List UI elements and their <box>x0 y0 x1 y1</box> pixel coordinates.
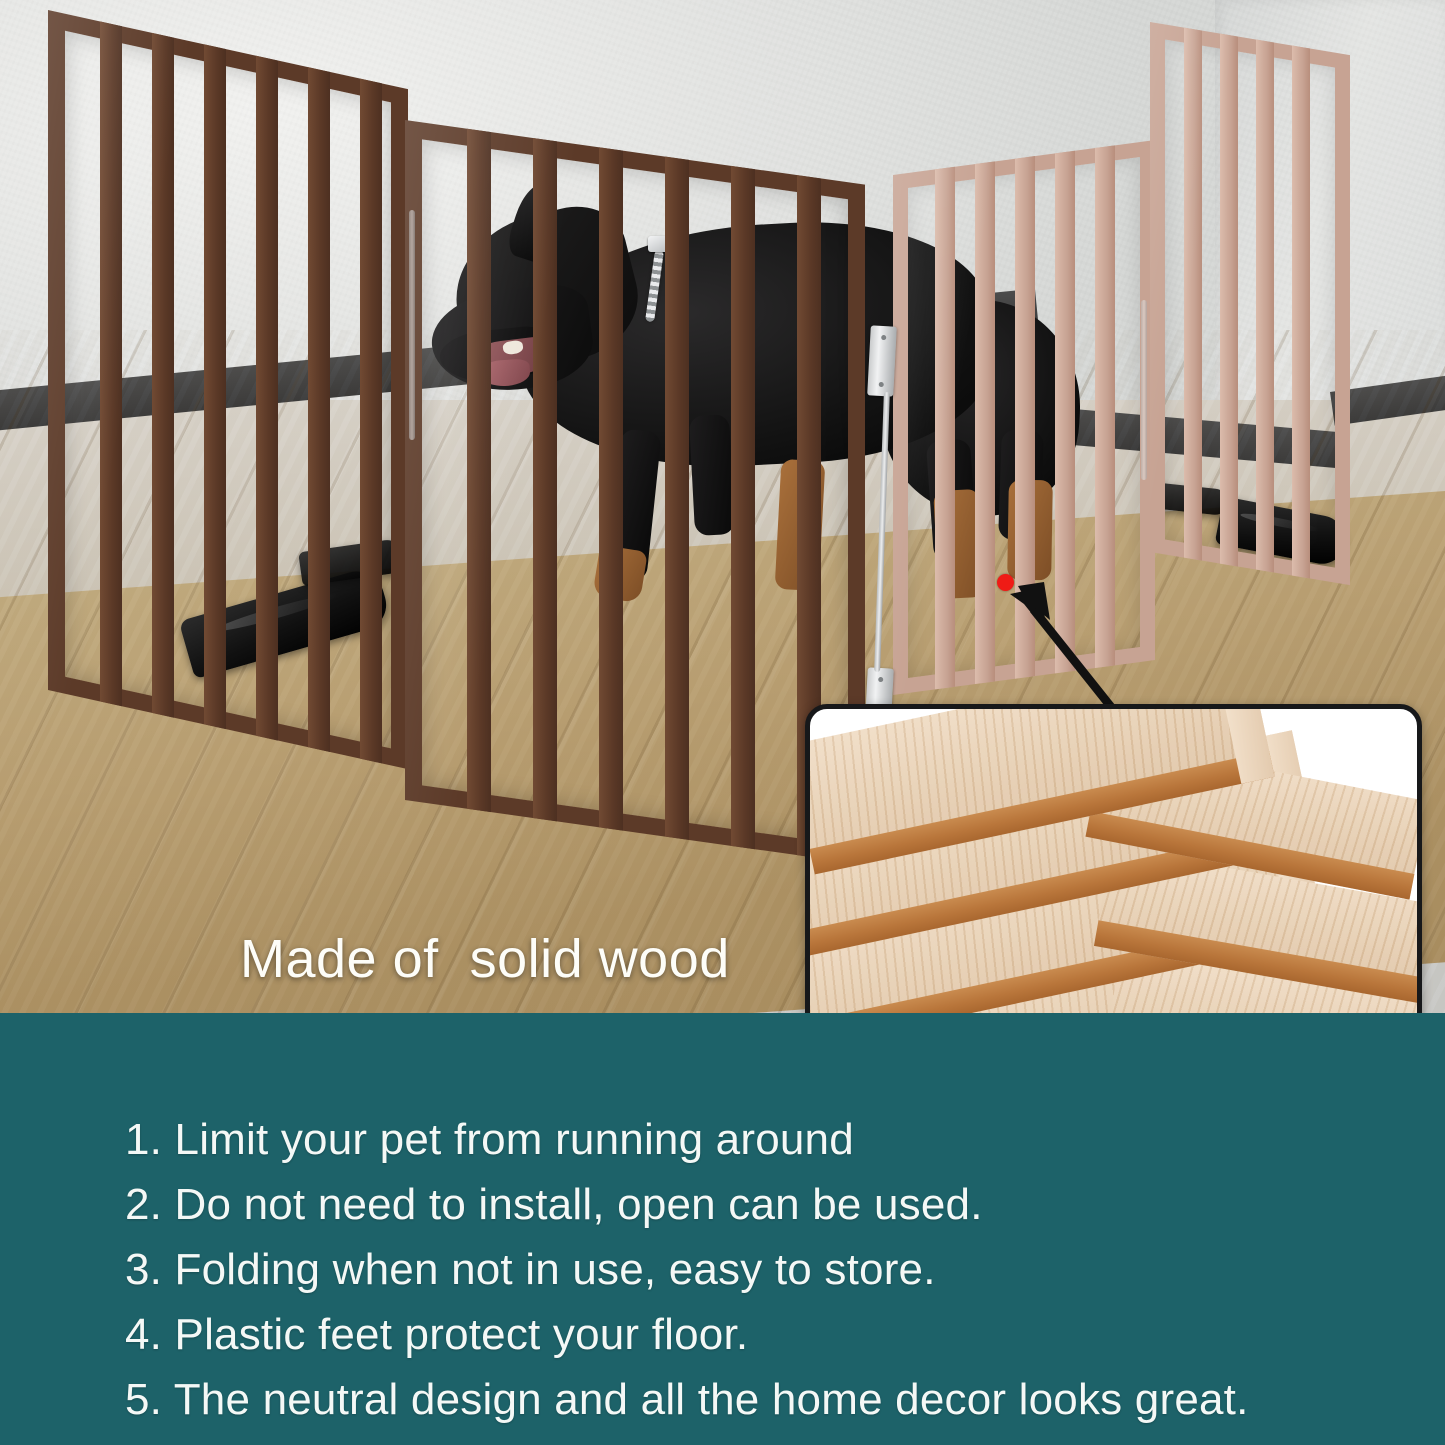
gate-slat <box>533 138 557 821</box>
gate-slat <box>1220 34 1238 567</box>
gate-slat <box>308 67 330 752</box>
feature-item-3: 3. Folding when not in use, easy to stor… <box>125 1245 936 1295</box>
gate-slat <box>1292 46 1310 579</box>
feature-item-5: 5. The neutral design and all the home d… <box>125 1375 1249 1425</box>
gate-slat <box>204 44 226 729</box>
feature-item-1: 1. Limit your pet from running around <box>125 1115 854 1165</box>
gate-slat <box>1256 40 1274 573</box>
gate-fold-seam-left <box>409 210 415 440</box>
feature-item-2: 2. Do not need to install, open can be u… <box>125 1180 983 1230</box>
gate-panel-4-frame <box>1150 22 1350 585</box>
product-marketing-image: Made of solid wood <box>0 0 1445 1445</box>
gate-fold-seam-right <box>1141 300 1147 480</box>
gate-slat <box>731 166 755 849</box>
gate-slat <box>665 157 689 840</box>
gate-panel-2 <box>405 120 865 865</box>
gate-slat <box>360 79 382 764</box>
gate-slat <box>467 129 491 812</box>
gate-slat <box>256 56 278 741</box>
gate-hinge-top <box>867 325 897 396</box>
gate-slat <box>152 33 174 718</box>
gate-slat <box>935 167 955 690</box>
feature-item-4: 4. Plastic feet protect your floor. <box>125 1310 748 1360</box>
gate-panel-1 <box>48 10 408 769</box>
photo-caption: Made of solid wood <box>240 928 730 990</box>
gate-panel-4 <box>1150 22 1350 585</box>
feature-list-band: 1. Limit your pet from running around 2.… <box>0 1013 1445 1445</box>
gate-slat <box>599 147 623 830</box>
gate-slat <box>1184 28 1202 561</box>
gate-slat <box>100 21 122 706</box>
